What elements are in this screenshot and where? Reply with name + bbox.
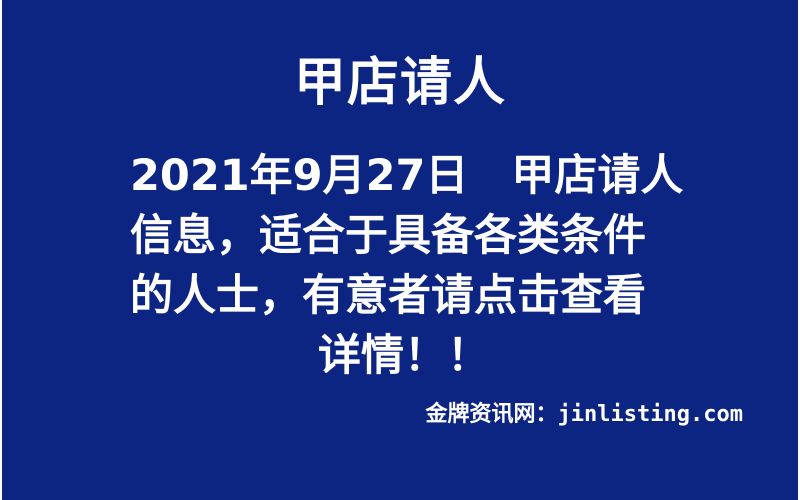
page-title: 甲店请人 [2, 53, 798, 113]
body-line-2: 信息，适合于具备各类条件 [130, 206, 678, 266]
body-line-1: 2021年9月27日 甲店请人 [130, 146, 678, 206]
site-watermark: 金牌资讯网：jinlisting.com [426, 401, 743, 428]
site-domain-label: jinlisting.com [558, 402, 743, 427]
promo-poster: 甲店请人 2021年9月27日 甲店请人 信息，适合于具备各类条件 的人士，有意… [0, 0, 800, 500]
body-line-4: 详情！！ [130, 326, 678, 386]
body-line-3: 的人士，有意者请点击查看 [130, 266, 678, 326]
site-name-label: 金牌资讯网： [426, 402, 558, 427]
poster-body-text: 2021年9月27日 甲店请人 信息，适合于具备各类条件 的人士，有意者请点击查… [130, 146, 678, 386]
